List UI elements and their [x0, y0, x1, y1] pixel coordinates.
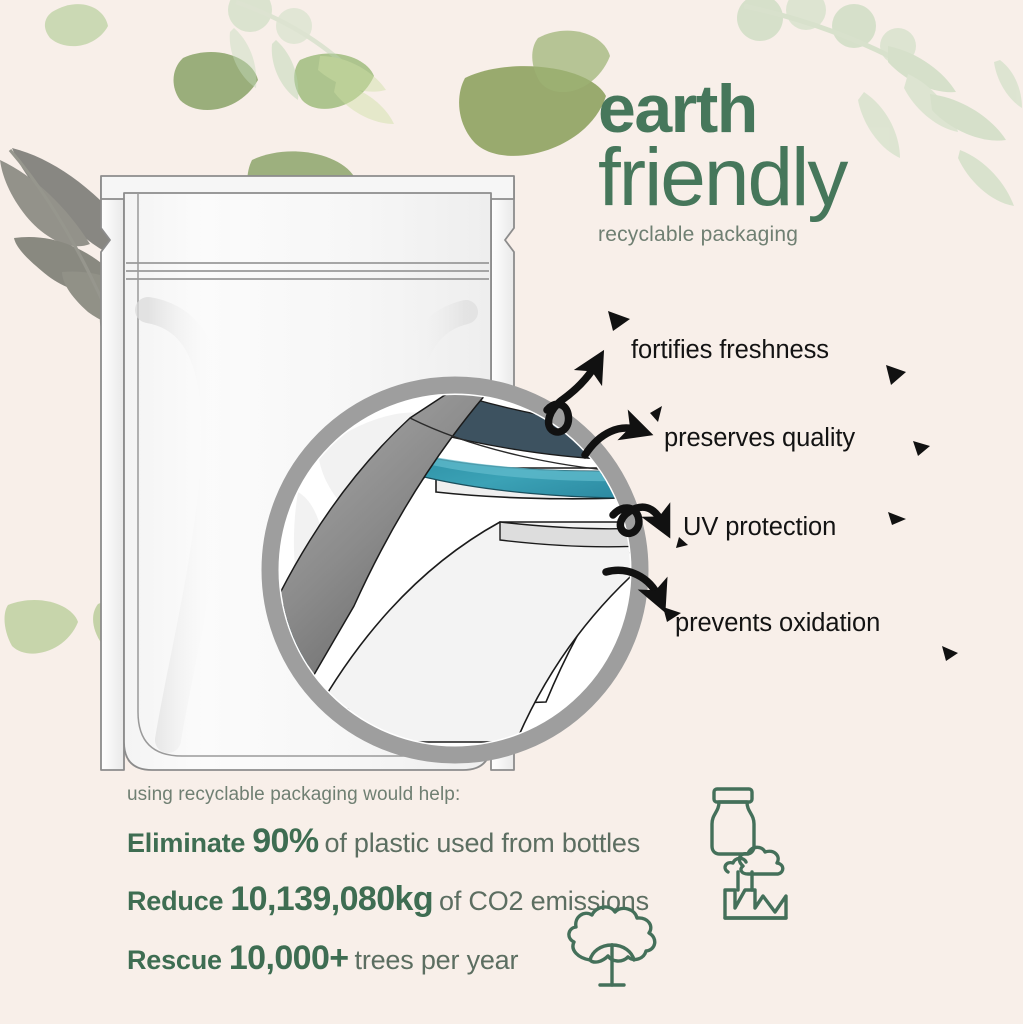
earth-friendly-packaging-infographic: earth friendly recyclable packaging fort… [0, 0, 1023, 1024]
factory-icon [725, 847, 786, 918]
tree-icon [569, 907, 655, 985]
jar-icon [712, 789, 754, 854]
stat-icons [0, 0, 1023, 1024]
